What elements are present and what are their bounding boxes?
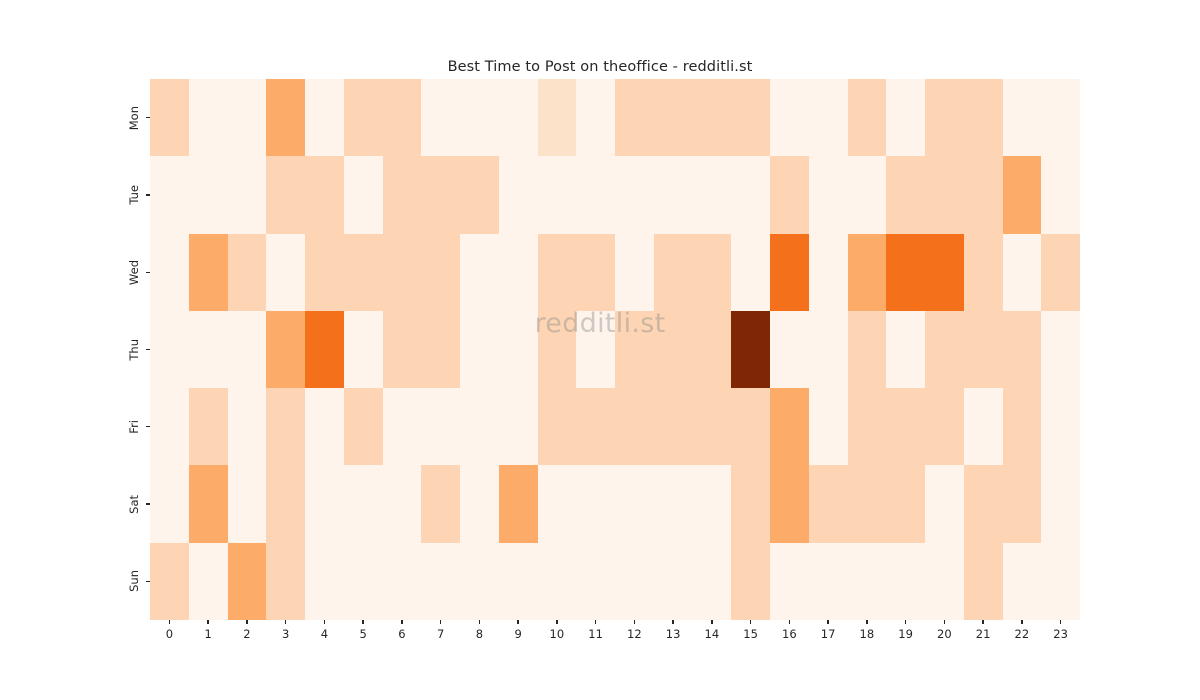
heatmap-cell	[150, 543, 189, 620]
heatmap-cell	[809, 311, 848, 388]
heatmap-cell	[964, 234, 1003, 311]
heatmap-cell	[383, 543, 422, 620]
y-axis-tick-label: Wed	[129, 260, 141, 285]
heatmap-cell	[576, 234, 615, 311]
heatmap-cell	[499, 156, 538, 233]
x-axis-tick-label: 4	[321, 629, 328, 641]
heatmap-cell	[770, 465, 809, 542]
heatmap-cell	[344, 156, 383, 233]
heatmap-cell	[925, 543, 964, 620]
x-axis-tick: 14	[693, 620, 732, 641]
x-axis-tick-label: 1	[204, 629, 211, 641]
heatmap-cell	[809, 543, 848, 620]
heatmap-cell	[848, 79, 887, 156]
heatmap-cell	[693, 388, 732, 465]
x-axis-tick-mark	[672, 620, 673, 624]
heatmap-cell	[1041, 465, 1080, 542]
heatmap-cell	[654, 388, 693, 465]
y-axis-tick-label: Mon	[129, 106, 141, 130]
heatmap-cell	[770, 543, 809, 620]
heatmap-cell	[228, 465, 267, 542]
x-axis-tick-label: 19	[898, 629, 913, 641]
heatmap-cell	[460, 156, 499, 233]
x-axis-tick-mark	[285, 620, 286, 624]
x-axis-tick: 11	[576, 620, 615, 641]
x-axis-tick-mark	[362, 620, 363, 624]
heatmap-cell	[150, 388, 189, 465]
heatmap-cell	[1041, 79, 1080, 156]
heatmap-cell	[770, 156, 809, 233]
heatmap-cell	[460, 234, 499, 311]
heatmap-cell	[848, 311, 887, 388]
heatmap-cell	[848, 465, 887, 542]
x-axis-tick: 19	[886, 620, 925, 641]
heatmap-cell	[848, 156, 887, 233]
x-axis-tick: 4	[305, 620, 344, 641]
heatmap-cell	[1041, 543, 1080, 620]
x-axis: 01234567891011121314151617181920212223	[150, 620, 1080, 660]
heatmap-cell	[266, 388, 305, 465]
heatmap-cell	[228, 156, 267, 233]
x-axis-tick-label: 23	[1053, 629, 1068, 641]
heatmap-cell	[770, 79, 809, 156]
heatmap-cell	[731, 79, 770, 156]
heatmap-cell	[499, 465, 538, 542]
heatmap-cell	[693, 465, 732, 542]
heatmap-cell	[189, 543, 228, 620]
y-axis-tick: Thu	[0, 311, 150, 388]
heatmap-cell	[189, 311, 228, 388]
heatmap-cell	[925, 234, 964, 311]
x-axis-tick: 13	[654, 620, 693, 641]
x-axis-tick-label: 21	[976, 629, 991, 641]
heatmap-cell	[964, 156, 1003, 233]
x-axis-tick-label: 2	[243, 629, 250, 641]
x-axis-tick: 0	[150, 620, 189, 641]
heatmap-cell	[228, 79, 267, 156]
heatmap-cell	[228, 543, 267, 620]
heatmap-cell	[576, 465, 615, 542]
heatmap-cell	[615, 465, 654, 542]
heatmap-cell	[848, 388, 887, 465]
x-axis-tick-mark	[905, 620, 906, 624]
heatmap-cell	[228, 388, 267, 465]
x-axis-tick: 9	[499, 620, 538, 641]
heatmap-cell	[770, 388, 809, 465]
heatmap-cell	[266, 465, 305, 542]
heatmap-cell	[421, 388, 460, 465]
heatmap-cell	[499, 388, 538, 465]
heatmap-cell	[305, 465, 344, 542]
heatmap-cell	[964, 543, 1003, 620]
heatmap-cell	[964, 79, 1003, 156]
y-axis-tick-label: Tue	[129, 185, 141, 205]
heatmap-cell	[538, 388, 577, 465]
heatmap-cell	[731, 311, 770, 388]
heatmap-cell	[538, 234, 577, 311]
x-axis-tick-label: 22	[1015, 629, 1030, 641]
heatmap-cell	[460, 465, 499, 542]
x-axis-tick-label: 11	[588, 629, 603, 641]
x-axis-tick: 16	[770, 620, 809, 641]
heatmap-cell	[886, 311, 925, 388]
heatmap-cell	[731, 156, 770, 233]
heatmap-cell	[421, 234, 460, 311]
heatmap-cell	[460, 388, 499, 465]
x-axis-tick-label: 9	[514, 629, 521, 641]
heatmap-cell	[964, 311, 1003, 388]
x-axis-tick-label: 12	[627, 629, 642, 641]
heatmap-cell	[421, 79, 460, 156]
heatmap-cell	[383, 156, 422, 233]
heatmap-cell	[344, 311, 383, 388]
heatmap-grid	[150, 79, 1080, 620]
heatmap-cell	[266, 79, 305, 156]
x-axis-tick-label: 10	[550, 629, 565, 641]
heatmap-cell	[731, 465, 770, 542]
heatmap-cell	[615, 388, 654, 465]
heatmap-cell	[770, 311, 809, 388]
heatmap-cell	[615, 79, 654, 156]
heatmap-cell	[693, 234, 732, 311]
heatmap-cell	[305, 79, 344, 156]
heatmap-cell	[266, 543, 305, 620]
heatmap-cell	[848, 234, 887, 311]
y-axis-tick-label: Thu	[129, 339, 141, 361]
x-axis-tick-label: 16	[782, 629, 797, 641]
heatmap-cell	[189, 79, 228, 156]
heatmap-cell	[266, 234, 305, 311]
heatmap-cell	[1003, 311, 1042, 388]
x-axis-tick-mark	[595, 620, 596, 624]
x-axis-tick-label: 5	[359, 629, 366, 641]
x-axis-tick-label: 20	[937, 629, 952, 641]
y-axis-tick: Sun	[0, 543, 150, 620]
x-axis-tick-label: 3	[282, 629, 289, 641]
heatmap-cell	[809, 156, 848, 233]
heatmap-cell	[383, 311, 422, 388]
heatmap-cell	[886, 79, 925, 156]
x-axis-tick-mark	[789, 620, 790, 624]
heatmap-cell	[538, 156, 577, 233]
y-axis: MonTueWedThuFriSatSun	[0, 79, 150, 620]
x-axis-tick-label: 13	[666, 629, 681, 641]
x-axis-tick-label: 6	[398, 629, 405, 641]
heatmap-cell	[538, 465, 577, 542]
heatmap-cell	[770, 234, 809, 311]
heatmap-cell	[576, 79, 615, 156]
x-axis-tick-label: 14	[705, 629, 720, 641]
heatmap-figure: Best Time to Post on theoffice - redditl…	[0, 0, 1200, 700]
x-axis-tick-label: 8	[476, 629, 483, 641]
x-axis-tick-label: 0	[166, 629, 173, 641]
heatmap-cell	[344, 79, 383, 156]
heatmap-cell	[460, 311, 499, 388]
chart-title: Best Time to Post on theoffice - redditl…	[0, 59, 1200, 75]
heatmap-cell	[150, 234, 189, 311]
heatmap-cell	[1003, 543, 1042, 620]
x-axis-tick-mark	[246, 620, 247, 624]
x-axis-tick-mark	[401, 620, 402, 624]
heatmap-cell	[886, 543, 925, 620]
heatmap-cell	[654, 543, 693, 620]
x-axis-tick: 12	[615, 620, 654, 641]
heatmap-cell	[1003, 156, 1042, 233]
heatmap-cell	[654, 311, 693, 388]
x-axis-tick-mark	[711, 620, 712, 624]
heatmap-cell	[344, 543, 383, 620]
x-axis-tick: 15	[731, 620, 770, 641]
heatmap-cell	[693, 543, 732, 620]
heatmap-cell	[576, 388, 615, 465]
y-axis-tick-label: Sat	[129, 495, 141, 514]
heatmap-cell	[421, 543, 460, 620]
heatmap-cell	[809, 388, 848, 465]
y-axis-tick: Sat	[0, 465, 150, 542]
heatmap-cell	[693, 156, 732, 233]
x-axis-tick: 22	[1003, 620, 1042, 641]
heatmap-cell	[886, 234, 925, 311]
heatmap-cell	[576, 543, 615, 620]
x-axis-tick: 17	[809, 620, 848, 641]
heatmap-cell	[344, 234, 383, 311]
heatmap-cell	[925, 465, 964, 542]
x-axis-tick-mark	[634, 620, 635, 624]
x-axis-tick-mark	[1021, 620, 1022, 624]
x-axis-tick-mark	[866, 620, 867, 624]
heatmap-cell	[576, 156, 615, 233]
heatmap-cell	[421, 465, 460, 542]
heatmap-cell	[305, 311, 344, 388]
heatmap-cell	[693, 311, 732, 388]
x-axis-tick: 5	[344, 620, 383, 641]
heatmap-cell	[848, 543, 887, 620]
heatmap-cell	[460, 543, 499, 620]
x-axis-tick-label: 17	[821, 629, 836, 641]
heatmap-cell	[189, 465, 228, 542]
heatmap-cell	[615, 311, 654, 388]
heatmap-cell	[228, 234, 267, 311]
heatmap-cell	[1003, 234, 1042, 311]
heatmap-cell	[150, 311, 189, 388]
heatmap-cell	[809, 234, 848, 311]
heatmap-cell	[189, 156, 228, 233]
x-axis-tick-label: 15	[743, 629, 758, 641]
heatmap-cell	[1041, 156, 1080, 233]
x-axis-tick: 23	[1041, 620, 1080, 641]
heatmap-cell	[615, 543, 654, 620]
heatmap-cell	[576, 311, 615, 388]
heatmap-cell	[615, 156, 654, 233]
heatmap-cell	[654, 79, 693, 156]
heatmap-cell	[383, 79, 422, 156]
heatmap-cell	[150, 156, 189, 233]
heatmap-cell	[421, 311, 460, 388]
heatmap-cell	[266, 311, 305, 388]
heatmap-cell	[189, 234, 228, 311]
heatmap-cell	[654, 234, 693, 311]
heatmap-cell	[538, 79, 577, 156]
y-axis-tick: Wed	[0, 234, 150, 311]
x-axis-tick-mark	[440, 620, 441, 624]
heatmap-cell	[964, 465, 1003, 542]
heatmap-cell	[150, 79, 189, 156]
x-axis-tick-mark	[169, 620, 170, 624]
plot-area: redditli.st	[150, 79, 1080, 620]
x-axis-tick-mark	[1060, 620, 1061, 624]
heatmap-cell	[809, 79, 848, 156]
heatmap-cell	[693, 79, 732, 156]
heatmap-cell	[886, 465, 925, 542]
heatmap-cell	[1041, 311, 1080, 388]
x-axis-tick: 10	[538, 620, 577, 641]
heatmap-cell	[499, 79, 538, 156]
heatmap-cell	[383, 388, 422, 465]
heatmap-cell	[731, 234, 770, 311]
x-axis-tick-mark	[479, 620, 480, 624]
heatmap-cell	[538, 311, 577, 388]
x-axis-tick-mark	[982, 620, 983, 624]
x-axis-tick: 8	[460, 620, 499, 641]
x-axis-tick-mark	[324, 620, 325, 624]
heatmap-cell	[305, 388, 344, 465]
heatmap-cell	[150, 465, 189, 542]
x-axis-tick-label: 18	[860, 629, 875, 641]
heatmap-cell	[383, 465, 422, 542]
x-axis-tick-mark	[750, 620, 751, 624]
heatmap-cell	[383, 234, 422, 311]
heatmap-cell	[1003, 465, 1042, 542]
heatmap-cell	[1041, 234, 1080, 311]
x-axis-tick-mark	[517, 620, 518, 624]
x-axis-tick: 18	[848, 620, 887, 641]
y-axis-tick: Mon	[0, 79, 150, 156]
heatmap-cell	[305, 156, 344, 233]
heatmap-cell	[925, 156, 964, 233]
heatmap-cell	[189, 388, 228, 465]
heatmap-cell	[731, 543, 770, 620]
heatmap-cell	[925, 311, 964, 388]
heatmap-cell	[499, 543, 538, 620]
heatmap-cell	[421, 156, 460, 233]
heatmap-cell	[228, 311, 267, 388]
y-axis-tick: Tue	[0, 156, 150, 233]
x-axis-tick-label: 7	[437, 629, 444, 641]
x-axis-tick-mark	[827, 620, 828, 624]
x-axis-tick: 7	[421, 620, 460, 641]
heatmap-cell	[964, 388, 1003, 465]
x-axis-tick: 21	[964, 620, 1003, 641]
y-axis-tick-label: Sun	[129, 570, 141, 592]
heatmap-cell	[499, 311, 538, 388]
x-axis-tick: 20	[925, 620, 964, 641]
heatmap-cell	[344, 388, 383, 465]
y-axis-tick-label: Fri	[129, 420, 141, 434]
x-axis-tick-mark	[207, 620, 208, 624]
y-axis-tick: Fri	[0, 388, 150, 465]
x-axis-tick: 3	[266, 620, 305, 641]
heatmap-cell	[925, 79, 964, 156]
x-axis-tick: 2	[228, 620, 267, 641]
x-axis-tick: 1	[189, 620, 228, 641]
heatmap-cell	[809, 465, 848, 542]
heatmap-cell	[305, 234, 344, 311]
heatmap-cell	[654, 465, 693, 542]
x-axis-tick: 6	[383, 620, 422, 641]
x-axis-tick-mark	[944, 620, 945, 624]
heatmap-cell	[499, 234, 538, 311]
heatmap-cell	[886, 156, 925, 233]
heatmap-cell	[266, 156, 305, 233]
heatmap-cell	[538, 543, 577, 620]
heatmap-cell	[925, 388, 964, 465]
heatmap-cell	[1003, 388, 1042, 465]
x-axis-tick-mark	[556, 620, 557, 624]
heatmap-cell	[654, 156, 693, 233]
heatmap-cell	[1003, 79, 1042, 156]
heatmap-cell	[305, 543, 344, 620]
heatmap-cell	[886, 388, 925, 465]
heatmap-cell	[460, 79, 499, 156]
heatmap-cell	[731, 388, 770, 465]
heatmap-cell	[1041, 388, 1080, 465]
heatmap-cell	[615, 234, 654, 311]
heatmap-cell	[344, 465, 383, 542]
